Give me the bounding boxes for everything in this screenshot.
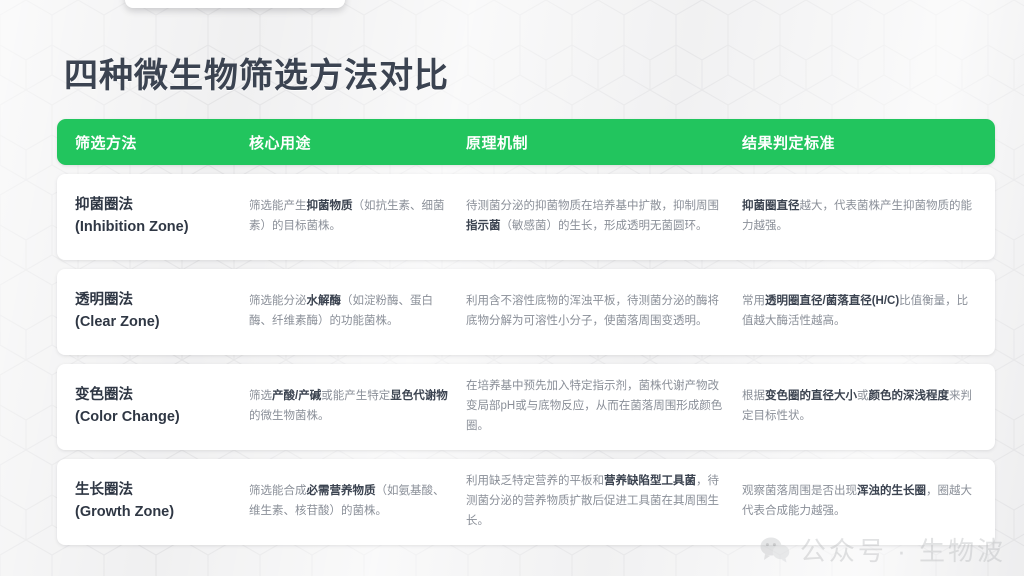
- cell-criteria: 根据变色圈的直径大小或颜色的深浅程度来判定目标性状。: [742, 375, 995, 439]
- top-cropped-card: [125, 0, 345, 8]
- method-name-cn: 抑菌圈法: [75, 195, 235, 217]
- cell-mechanism: 利用缺乏特定营养的平板和营养缺陷型工具菌，待测菌分泌的营养物质扩散后促进工具菌在…: [466, 460, 742, 543]
- method-name-cn: 生长圈法: [75, 480, 235, 502]
- cell-method: 抑菌圈法(Inhibition Zone): [57, 183, 249, 251]
- cell-mechanism-text: 在培养基中预先加入特定指示剂，菌株代谢产物改变局部pH或与底物反应，从而在菌落周…: [466, 377, 728, 436]
- method-name-cn: 变色圈法: [75, 385, 235, 407]
- cell-criteria-text: 常用透明圈直径/菌落直径(H/C)比值衡量，比值越大酶活性越高。: [742, 292, 977, 332]
- table-header-row: 筛选方法 核心用途 原理机制 结果判定标准: [57, 119, 995, 165]
- cell-purpose: 筛选产酸/产碱或能产生特定显色代谢物的微生物菌株。: [249, 375, 466, 439]
- cell-method: 生长圈法(Growth Zone): [57, 468, 249, 536]
- table-row: 抑菌圈法(Inhibition Zone)筛选能产生抑菌物质（如抗生素、细菌素）…: [57, 174, 995, 260]
- cell-criteria: 观察菌落周围是否出现浑浊的生长圈，圈越大代表合成能力越强。: [742, 470, 995, 534]
- cell-mechanism-text: 利用含不溶性底物的浑浊平板，待测菌分泌的酶将底物分解为可溶性小分子，使菌落周围变…: [466, 292, 728, 332]
- method-name-en: (Clear Zone): [75, 312, 235, 334]
- table-row: 透明圈法(Clear Zone)筛选能分泌水解酶（如淀粉酶、蛋白酶、纤维素酶）的…: [57, 269, 995, 355]
- cell-purpose-text: 筛选能产生抑菌物质（如抗生素、细菌素）的目标菌株。: [249, 197, 452, 237]
- table-body: 抑菌圈法(Inhibition Zone)筛选能产生抑菌物质（如抗生素、细菌素）…: [57, 174, 995, 545]
- cell-criteria: 抑菌圈直径越大，代表菌株产生抑菌物质的能力越强。: [742, 185, 995, 249]
- column-header-method: 筛选方法: [57, 120, 249, 165]
- table-row: 生长圈法(Growth Zone)筛选能合成必需营养物质（如氨基酸、维生素、核苷…: [57, 459, 995, 545]
- cell-mechanism: 待测菌分泌的抑菌物质在培养基中扩散，抑制周围指示菌（敏感菌）的生长，形成透明无菌…: [466, 185, 742, 249]
- method-name-en: (Growth Zone): [75, 502, 235, 524]
- method-name-en: (Color Change): [75, 407, 235, 429]
- column-header-criteria: 结果判定标准: [742, 120, 995, 165]
- slide-canvas: 四种微生物筛选方法对比 筛选方法 核心用途 原理机制 结果判定标准 抑菌圈法(I…: [0, 0, 1024, 576]
- cell-criteria-text: 观察菌落周围是否出现浑浊的生长圈，圈越大代表合成能力越强。: [742, 482, 977, 522]
- cell-mechanism: 利用含不溶性底物的浑浊平板，待测菌分泌的酶将底物分解为可溶性小分子，使菌落周围变…: [466, 280, 742, 344]
- cell-purpose: 筛选能产生抑菌物质（如抗生素、细菌素）的目标菌株。: [249, 185, 466, 249]
- cell-criteria: 常用透明圈直径/菌落直径(H/C)比值衡量，比值越大酶活性越高。: [742, 280, 995, 344]
- method-name-en: (Inhibition Zone): [75, 217, 235, 239]
- cell-purpose-text: 筛选能分泌水解酶（如淀粉酶、蛋白酶、纤维素酶）的功能菌株。: [249, 292, 452, 332]
- cell-purpose: 筛选能合成必需营养物质（如氨基酸、维生素、核苷酸）的菌株。: [249, 470, 466, 534]
- table-row: 变色圈法(Color Change)筛选产酸/产碱或能产生特定显色代谢物的微生物…: [57, 364, 995, 450]
- cell-mechanism-text: 待测菌分泌的抑菌物质在培养基中扩散，抑制周围指示菌（敏感菌）的生长，形成透明无菌…: [466, 197, 728, 237]
- cell-criteria-text: 根据变色圈的直径大小或颜色的深浅程度来判定目标性状。: [742, 387, 977, 427]
- cell-mechanism-text: 利用缺乏特定营养的平板和营养缺陷型工具菌，待测菌分泌的营养物质扩散后促进工具菌在…: [466, 472, 728, 531]
- cell-method: 变色圈法(Color Change): [57, 373, 249, 441]
- cell-criteria-text: 抑菌圈直径越大，代表菌株产生抑菌物质的能力越强。: [742, 197, 977, 237]
- cell-purpose-text: 筛选能合成必需营养物质（如氨基酸、维生素、核苷酸）的菌株。: [249, 482, 452, 522]
- cell-mechanism: 在培养基中预先加入特定指示剂，菌株代谢产物改变局部pH或与底物反应，从而在菌落周…: [466, 365, 742, 448]
- column-header-purpose: 核心用途: [249, 120, 466, 165]
- method-name-cn: 透明圈法: [75, 290, 235, 312]
- page-title: 四种微生物筛选方法对比: [64, 48, 449, 97]
- column-header-mechanism: 原理机制: [466, 120, 742, 165]
- comparison-table: 筛选方法 核心用途 原理机制 结果判定标准 抑菌圈法(Inhibition Zo…: [57, 119, 995, 545]
- cell-purpose: 筛选能分泌水解酶（如淀粉酶、蛋白酶、纤维素酶）的功能菌株。: [249, 280, 466, 344]
- cell-method: 透明圈法(Clear Zone): [57, 278, 249, 346]
- cell-purpose-text: 筛选产酸/产碱或能产生特定显色代谢物的微生物菌株。: [249, 387, 452, 427]
